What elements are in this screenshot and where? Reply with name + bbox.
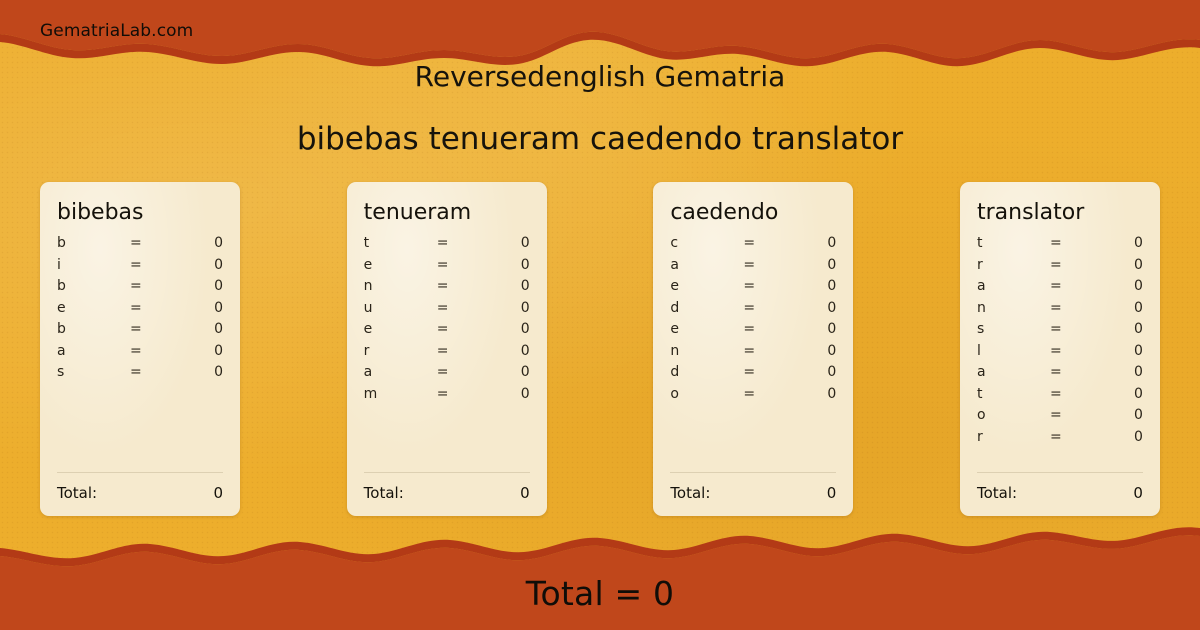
letter-value-row: l=0	[977, 343, 1143, 365]
letter-value-row: b=0	[57, 278, 223, 300]
letter-value: 0	[780, 300, 836, 316]
letter-glyph: i	[57, 257, 130, 273]
letter-value: 0	[473, 343, 529, 359]
equals-sign: =	[130, 321, 167, 337]
letter-value: 0	[167, 278, 223, 294]
equals-sign: =	[743, 300, 780, 316]
letter-glyph: e	[364, 321, 437, 337]
letter-value-row: d=0	[670, 364, 836, 386]
equals-sign: =	[1050, 235, 1087, 251]
equals-sign: =	[1050, 407, 1087, 423]
letter-glyph: n	[364, 278, 437, 294]
letter-value: 0	[167, 321, 223, 337]
letter-glyph: b	[57, 278, 130, 294]
word-card-total-value: 0	[213, 484, 223, 502]
letter-glyph: d	[670, 300, 743, 316]
letter-glyph: o	[670, 386, 743, 402]
equals-sign: =	[130, 364, 167, 380]
grand-total-label: Total = 0	[0, 574, 1200, 613]
word-card-title: translator	[977, 200, 1143, 225]
letter-value-list: b=0i=0b=0e=0b=0a=0s=0	[57, 235, 223, 466]
letter-value: 0	[1087, 278, 1143, 294]
letter-value: 0	[473, 386, 529, 402]
word-card-title: caedendo	[670, 200, 836, 225]
letter-value-row: o=0	[977, 407, 1143, 429]
word-card-total: Total:0	[364, 472, 530, 502]
letter-glyph: l	[977, 343, 1050, 359]
letter-value-row: u=0	[364, 300, 530, 322]
letter-glyph: r	[977, 429, 1050, 445]
equals-sign: =	[1050, 278, 1087, 294]
word-card: bibebasb=0i=0b=0e=0b=0a=0s=0Total:0	[40, 182, 240, 516]
letter-value-row: e=0	[670, 321, 836, 343]
letter-value: 0	[473, 257, 529, 273]
equals-sign: =	[437, 386, 474, 402]
letter-value-row: a=0	[670, 257, 836, 279]
letter-value: 0	[1087, 235, 1143, 251]
word-card-total-label: Total:	[977, 484, 1017, 502]
letter-value-list: c=0a=0e=0d=0e=0n=0d=0o=0	[670, 235, 836, 466]
letter-value: 0	[1087, 429, 1143, 445]
equals-sign: =	[437, 278, 474, 294]
letter-glyph: b	[57, 235, 130, 251]
word-card-title: bibebas	[57, 200, 223, 225]
letter-value: 0	[1087, 364, 1143, 380]
letter-value: 0	[167, 257, 223, 273]
letter-value-row: r=0	[977, 257, 1143, 279]
letter-value: 0	[780, 321, 836, 337]
letter-value-row: m=0	[364, 386, 530, 408]
word-card-total-value: 0	[1133, 484, 1143, 502]
letter-value-row: n=0	[670, 343, 836, 365]
word-card: tenueramt=0e=0n=0u=0e=0r=0a=0m=0Total:0	[347, 182, 547, 516]
equals-sign: =	[437, 321, 474, 337]
word-card-title: tenueram	[364, 200, 530, 225]
equals-sign: =	[743, 386, 780, 402]
word-card-total: Total:0	[977, 472, 1143, 502]
letter-value-row: b=0	[57, 235, 223, 257]
word-card: translatort=0r=0a=0n=0s=0l=0a=0t=0o=0r=0…	[960, 182, 1160, 516]
equals-sign: =	[437, 300, 474, 316]
letter-glyph: a	[977, 364, 1050, 380]
letter-value: 0	[167, 300, 223, 316]
letter-value: 0	[167, 364, 223, 380]
equals-sign: =	[743, 257, 780, 273]
letter-value-row: t=0	[364, 235, 530, 257]
equals-sign: =	[743, 321, 780, 337]
word-card: caedendoc=0a=0e=0d=0e=0n=0d=0o=0Total:0	[653, 182, 853, 516]
letter-value-row: t=0	[977, 235, 1143, 257]
letter-value-row: e=0	[364, 257, 530, 279]
letter-value-row: a=0	[57, 343, 223, 365]
letter-glyph: a	[364, 364, 437, 380]
letter-value-row: e=0	[670, 278, 836, 300]
letter-glyph: t	[977, 386, 1050, 402]
letter-glyph: c	[670, 235, 743, 251]
letter-glyph: n	[670, 343, 743, 359]
poster-canvas: GematriaLab.com Reversedenglish Gematria…	[0, 0, 1200, 630]
equals-sign: =	[1050, 321, 1087, 337]
letter-glyph: r	[364, 343, 437, 359]
equals-sign: =	[1050, 364, 1087, 380]
letter-glyph: e	[364, 257, 437, 273]
letter-value-row: r=0	[977, 429, 1143, 451]
letter-glyph: b	[57, 321, 130, 337]
equals-sign: =	[1050, 257, 1087, 273]
word-card-total: Total:0	[57, 472, 223, 502]
word-card-list: bibebasb=0i=0b=0e=0b=0a=0s=0Total:0tenue…	[40, 182, 1160, 516]
letter-value: 0	[1087, 300, 1143, 316]
equals-sign: =	[437, 235, 474, 251]
letter-value-row: s=0	[977, 321, 1143, 343]
equals-sign: =	[1050, 300, 1087, 316]
word-card-total-label: Total:	[670, 484, 710, 502]
equals-sign: =	[1050, 343, 1087, 359]
letter-glyph: e	[670, 278, 743, 294]
letter-value-row: i=0	[57, 257, 223, 279]
letter-glyph: a	[57, 343, 130, 359]
letter-value: 0	[780, 386, 836, 402]
letter-value-row: e=0	[57, 300, 223, 322]
letter-value: 0	[780, 235, 836, 251]
letter-value-row: o=0	[670, 386, 836, 408]
word-card-total: Total:0	[670, 472, 836, 502]
letter-value-row: n=0	[364, 278, 530, 300]
equals-sign: =	[743, 278, 780, 294]
letter-value: 0	[1087, 321, 1143, 337]
letter-glyph: m	[364, 386, 437, 402]
letter-glyph: t	[364, 235, 437, 251]
page-subtitle: bibebas tenueram caedendo translator	[0, 121, 1200, 157]
equals-sign: =	[1050, 429, 1087, 445]
letter-glyph: u	[364, 300, 437, 316]
letter-value-row: a=0	[364, 364, 530, 386]
equals-sign: =	[130, 278, 167, 294]
equals-sign: =	[437, 343, 474, 359]
letter-glyph: s	[57, 364, 130, 380]
letter-value: 0	[780, 278, 836, 294]
letter-glyph: e	[57, 300, 130, 316]
letter-value-list: t=0r=0a=0n=0s=0l=0a=0t=0o=0r=0	[977, 235, 1143, 466]
equals-sign: =	[437, 257, 474, 273]
letter-value: 0	[473, 300, 529, 316]
letter-glyph: e	[670, 321, 743, 337]
equals-sign: =	[743, 364, 780, 380]
equals-sign: =	[743, 343, 780, 359]
letter-value-row: c=0	[670, 235, 836, 257]
letter-value: 0	[167, 235, 223, 251]
letter-value: 0	[780, 343, 836, 359]
equals-sign: =	[437, 364, 474, 380]
letter-glyph: a	[670, 257, 743, 273]
letter-value-row: e=0	[364, 321, 530, 343]
equals-sign: =	[130, 235, 167, 251]
letter-glyph: o	[977, 407, 1050, 423]
word-card-total-value: 0	[520, 484, 530, 502]
letter-value: 0	[1087, 386, 1143, 402]
letter-glyph: r	[977, 257, 1050, 273]
letter-value: 0	[1087, 343, 1143, 359]
letter-value-row: r=0	[364, 343, 530, 365]
letter-value: 0	[473, 278, 529, 294]
letter-value: 0	[473, 364, 529, 380]
letter-value-row: n=0	[977, 300, 1143, 322]
word-card-total-label: Total:	[57, 484, 97, 502]
letter-value-row: s=0	[57, 364, 223, 386]
word-card-total-value: 0	[827, 484, 837, 502]
letter-value: 0	[1087, 407, 1143, 423]
letter-value: 0	[780, 364, 836, 380]
page-title: Reversedenglish Gematria	[0, 60, 1200, 93]
equals-sign: =	[1050, 386, 1087, 402]
letter-value: 0	[473, 321, 529, 337]
equals-sign: =	[130, 300, 167, 316]
equals-sign: =	[130, 257, 167, 273]
letter-glyph: s	[977, 321, 1050, 337]
letter-glyph: a	[977, 278, 1050, 294]
letter-value-row: a=0	[977, 278, 1143, 300]
letter-value: 0	[780, 257, 836, 273]
letter-value: 0	[167, 343, 223, 359]
equals-sign: =	[130, 343, 167, 359]
word-card-total-label: Total:	[364, 484, 404, 502]
site-name-label: GematriaLab.com	[40, 21, 193, 41]
letter-value-row: b=0	[57, 321, 223, 343]
letter-value-row: t=0	[977, 386, 1143, 408]
letter-value: 0	[1087, 257, 1143, 273]
letter-value-row: d=0	[670, 300, 836, 322]
letter-value: 0	[473, 235, 529, 251]
letter-glyph: n	[977, 300, 1050, 316]
equals-sign: =	[743, 235, 780, 251]
letter-value-list: t=0e=0n=0u=0e=0r=0a=0m=0	[364, 235, 530, 466]
letter-value-row: a=0	[977, 364, 1143, 386]
letter-glyph: t	[977, 235, 1050, 251]
letter-glyph: d	[670, 364, 743, 380]
